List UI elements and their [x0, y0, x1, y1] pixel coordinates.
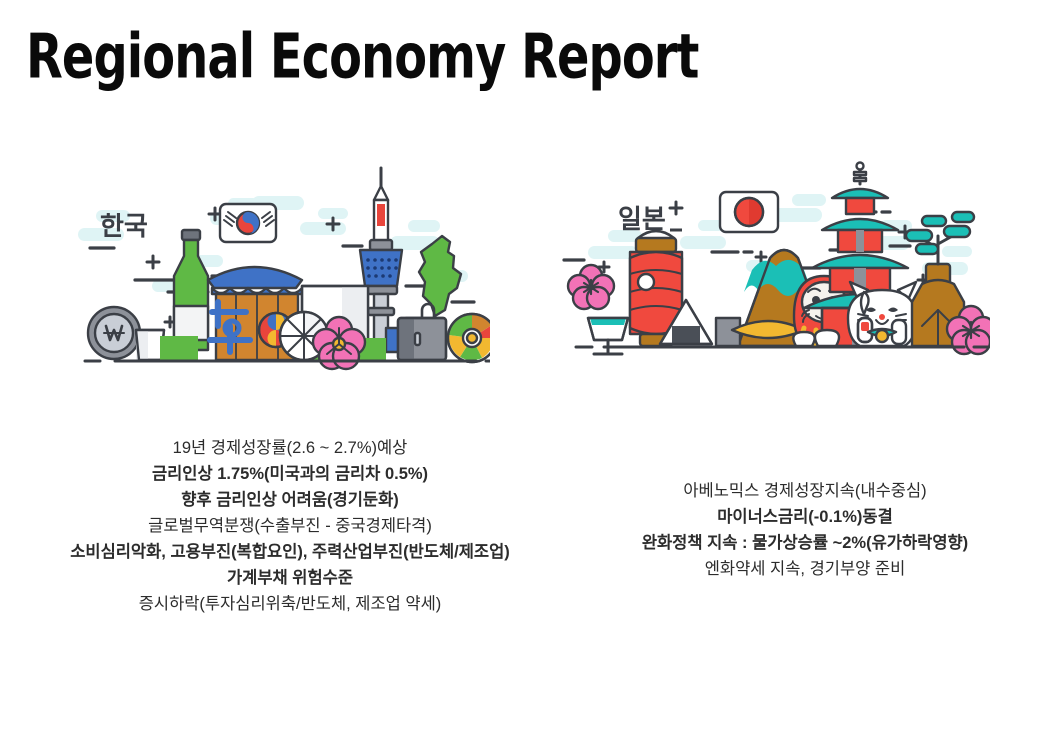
- japan-report-line: 마이너스금리(-0.1%)동결: [570, 504, 1040, 530]
- japan-handwritten-label: 일본: [618, 205, 666, 235]
- korea-report-line: 가계부채 위험수준: [10, 565, 570, 591]
- korea-handwritten-label: 한국: [100, 212, 148, 242]
- japan-report-text: 아베노믹스 경제성장지속(내수중심) 마이너스금리(-0.1%)동결 완화정책 …: [570, 478, 1040, 582]
- korea-report-line: 증시하락(투자심리위축/반도체, 제조업 약세): [10, 591, 570, 617]
- maneki-neko-icon: [848, 282, 916, 346]
- korea-report-line: 소비심리악화, 고용부진(복합요인), 주력산업부진(반도체/제조업): [10, 539, 570, 565]
- korean-flag: [220, 204, 276, 242]
- plum-blossom-icon: [568, 265, 614, 309]
- korea-report-line: 19년 경제성장률(2.6 ~ 2.7%)예상: [10, 435, 570, 461]
- report-page: Regional Economy Report: [0, 0, 1047, 733]
- page-title: Regional Economy Report: [26, 22, 698, 93]
- japan-illustration-panel: 일본: [560, 150, 990, 390]
- japan-report-line: 아베노믹스 경제성장지속(내수중심): [570, 478, 1040, 504]
- korea-report-line: 글로벌무역분쟁(수출부진 - 중국경제타격): [10, 513, 570, 539]
- japan-report-line: 완화정책 지속 : 물가상승률 ~2%(유가하락영향): [570, 530, 1040, 556]
- korea-illustration-panel: 한국: [60, 150, 490, 390]
- soju-bottle-icon: [174, 230, 208, 350]
- sake-cup-icon: [588, 318, 628, 354]
- japan-flag: [720, 192, 778, 232]
- stone-pebble-icon: [793, 330, 839, 346]
- soju-cup-icon: [136, 330, 164, 360]
- korea-report-line: 금리인상 1.75%(미국과의 금리차 0.5%): [10, 461, 570, 487]
- japan-report-line: 엔화약세 지속, 경기부양 준비: [570, 556, 1040, 582]
- korea-report-line: 향후 금리인상 어려움(경기둔화): [10, 487, 570, 513]
- japan-illustration: 일본: [560, 150, 990, 390]
- bibimbap-icon: [448, 314, 490, 362]
- korea-illustration: 한국: [60, 150, 490, 390]
- korea-report-text: 19년 경제성장률(2.6 ~ 2.7%)예상 금리인상 1.75%(미국과의 …: [10, 435, 570, 617]
- won-coin-icon: [88, 307, 140, 359]
